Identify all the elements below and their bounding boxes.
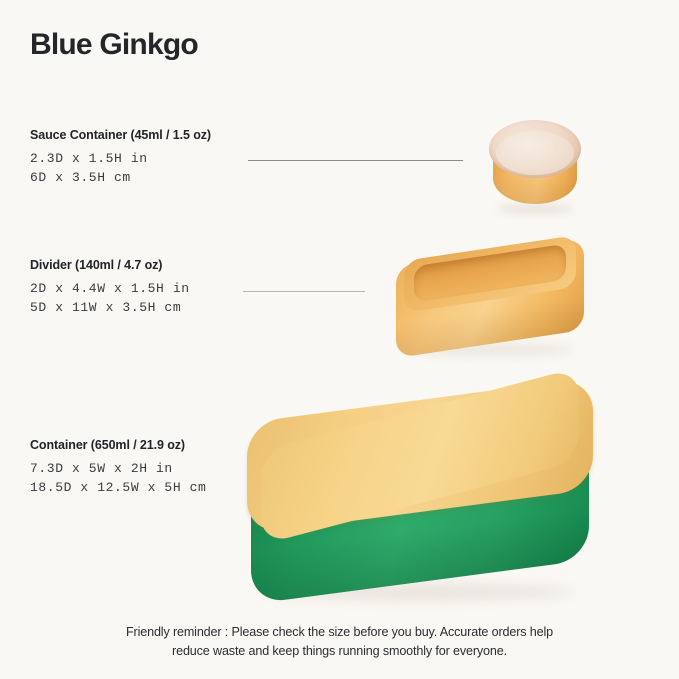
spec-title-sauce-container: Sauce Container (45ml / 1.5 oz): [30, 128, 211, 142]
product-image-sauce-container: [489, 112, 581, 217]
spec-dimensions-inches-divider: 2D x 4.4W x 1.5H in: [30, 281, 190, 296]
sauce-container-lid: [489, 120, 581, 178]
spec-title-container: Container (650ml / 21.9 oz): [30, 438, 206, 452]
footer-line-1: Friendly reminder : Please check the siz…: [0, 623, 679, 642]
spec-block-divider: Divider (140ml / 4.7 oz) 2D x 4.4W x 1.5…: [30, 258, 190, 315]
sauce-container-lid-top: [496, 131, 574, 175]
spec-dimensions-cm-sauce-container: 6D x 3.5H cm: [30, 170, 211, 185]
spec-dimensions-inches-container: 7.3D x 5W x 2H in: [30, 461, 206, 476]
product-image-divider: [390, 246, 590, 356]
spec-block-sauce-container: Sauce Container (45ml / 1.5 oz) 2.3D x 1…: [30, 128, 211, 185]
spec-dimensions-cm-divider: 5D x 11W x 3.5H cm: [30, 300, 190, 315]
product-image-container: [243, 398, 598, 603]
spec-dimensions-inches-sauce-container: 2.3D x 1.5H in: [30, 151, 211, 166]
spec-title-divider: Divider (140ml / 4.7 oz): [30, 258, 190, 272]
footer-line-2: reduce waste and keep things running smo…: [0, 642, 679, 661]
brand-logo: Blue Ginkgo: [30, 28, 198, 62]
footer-reminder: Friendly reminder : Please check the siz…: [0, 623, 679, 661]
leader-line-divider: [243, 291, 365, 292]
spec-dimensions-cm-container: 18.5D x 12.5W x 5H cm: [30, 480, 206, 495]
leader-line-sauce-container: [248, 160, 463, 161]
spec-block-container: Container (650ml / 21.9 oz) 7.3D x 5W x …: [30, 438, 206, 495]
product-shadow: [497, 203, 573, 215]
product-spec-infographic: Blue Ginkgo Sauce Container (45ml / 1.5 …: [0, 0, 679, 679]
